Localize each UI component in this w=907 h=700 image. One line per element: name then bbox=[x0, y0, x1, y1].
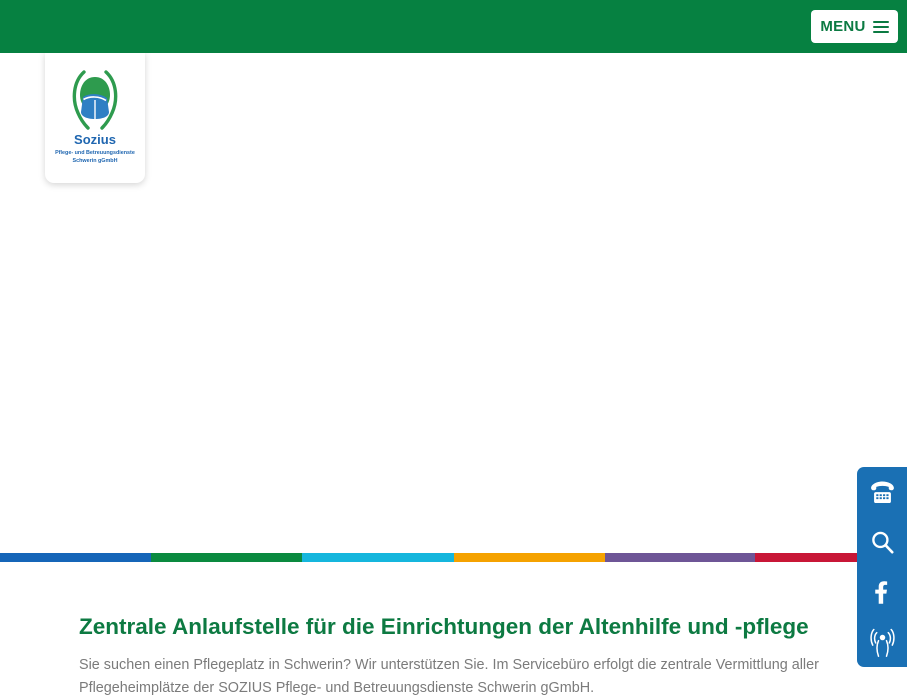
color-stripe-blue bbox=[0, 553, 151, 562]
floating-action-rail bbox=[857, 467, 907, 667]
search-icon[interactable] bbox=[857, 517, 907, 567]
color-stripe-cyan bbox=[302, 553, 454, 562]
sign-language-icon-glyph bbox=[868, 626, 897, 658]
page-paragraph: Sie suchen einen Pflegeplatz in Schwerin… bbox=[0, 640, 907, 700]
sign-language-icon[interactable] bbox=[857, 617, 907, 667]
menu-button[interactable]: MENU bbox=[811, 10, 898, 43]
color-stripe-orange bbox=[454, 553, 605, 562]
facebook-icon[interactable] bbox=[857, 567, 907, 617]
search-icon-glyph bbox=[869, 529, 896, 556]
color-stripe-purple bbox=[605, 553, 755, 562]
site-header: MENU bbox=[0, 0, 907, 53]
page-heading: Zentrale Anlaufstelle für die Einrichtun… bbox=[0, 562, 907, 640]
logo-subtitle-line1: Pflege- und Betreuungsdienste bbox=[55, 150, 135, 158]
intro-content-section: Zentrale Anlaufstelle für die Einrichtun… bbox=[0, 562, 907, 700]
phone-icon-glyph bbox=[869, 479, 896, 506]
menu-button-label: MENU bbox=[820, 18, 865, 35]
sozius-leaf-logo-icon bbox=[69, 68, 121, 130]
hamburger-icon bbox=[873, 21, 889, 33]
phone-icon[interactable] bbox=[857, 467, 907, 517]
color-stripe-green bbox=[151, 553, 302, 562]
site-logo-card[interactable]: Sozius Pflege- und Betreuungsdienste Sch… bbox=[45, 52, 145, 183]
color-stripe-band bbox=[0, 553, 907, 562]
logo-subtitle-line2: Schwerin gGmbH bbox=[73, 158, 118, 166]
logo-wordmark: Sozius bbox=[74, 133, 116, 146]
facebook-icon-glyph bbox=[869, 579, 896, 606]
